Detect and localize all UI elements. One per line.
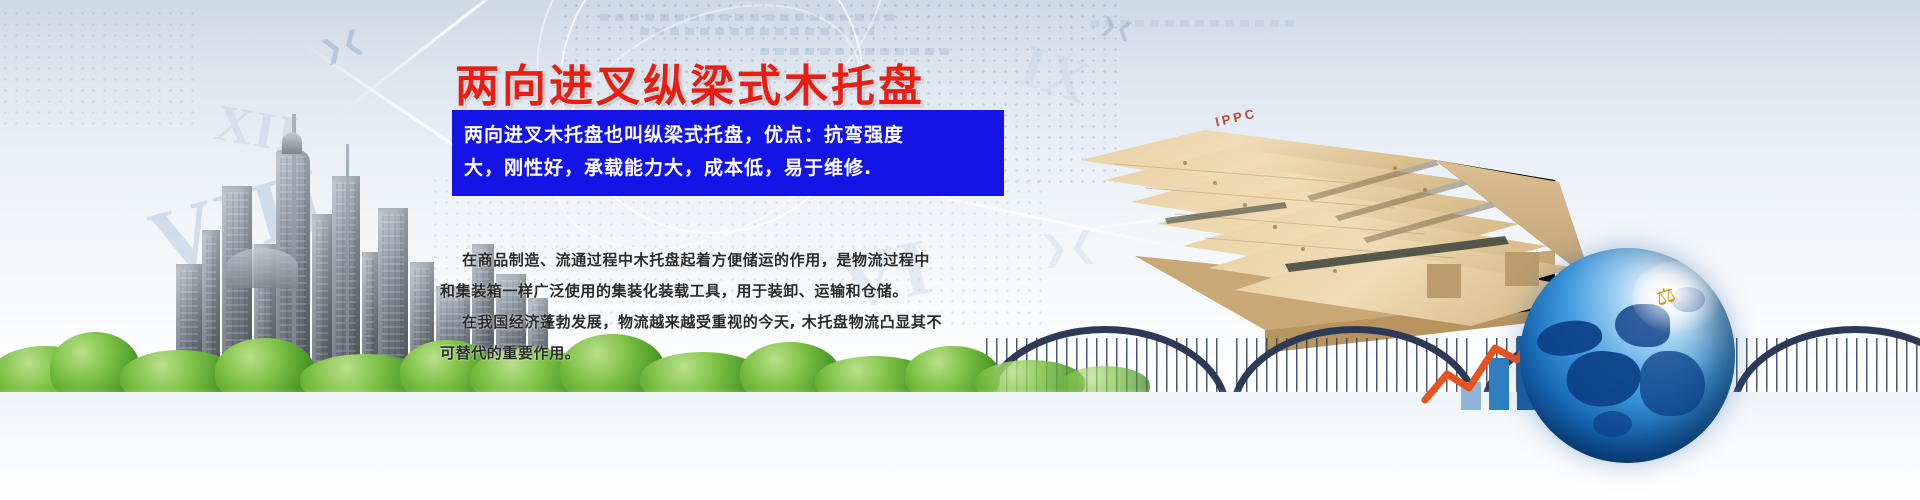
highlight-line: 大，刚性好，承载能力大，成本低，易于维修.: [464, 152, 992, 185]
body-line: 可替代的重要作用。: [440, 338, 1030, 369]
body-line: 在我国经济蓬勃发展，物流越来越受重视的今天, 木托盘物流凸显其不: [440, 307, 1030, 338]
highlight-callout-box: 两向进叉木托盘也叫纵梁式托盘，优点：抗弯强度 大，刚性好，承载能力大，成本低，易…: [452, 110, 1004, 196]
body-line: 和集装箱一样广泛使用的集装化装载工具，用于装卸、运输和仓储。: [440, 276, 1030, 307]
page-title: 两向进叉纵梁式木托盘: [455, 50, 925, 114]
body-line: 在商品制造、流通过程中木托盘起着方便储运的作用，是物流过程中: [440, 245, 1030, 276]
bird-icon: ❯❮: [317, 25, 367, 64]
promo-banner: VIII XII VI IX ❯❮ ❯❮ ❯❮: [0, 0, 1920, 500]
body-paragraph: 在商品制造、流通过程中木托盘起着方便储运的作用，是物流过程中 和集装箱一样广泛使…: [440, 245, 1030, 369]
highlight-line: 两向进叉木托盘也叫纵梁式托盘，优点：抗弯强度: [464, 119, 992, 152]
